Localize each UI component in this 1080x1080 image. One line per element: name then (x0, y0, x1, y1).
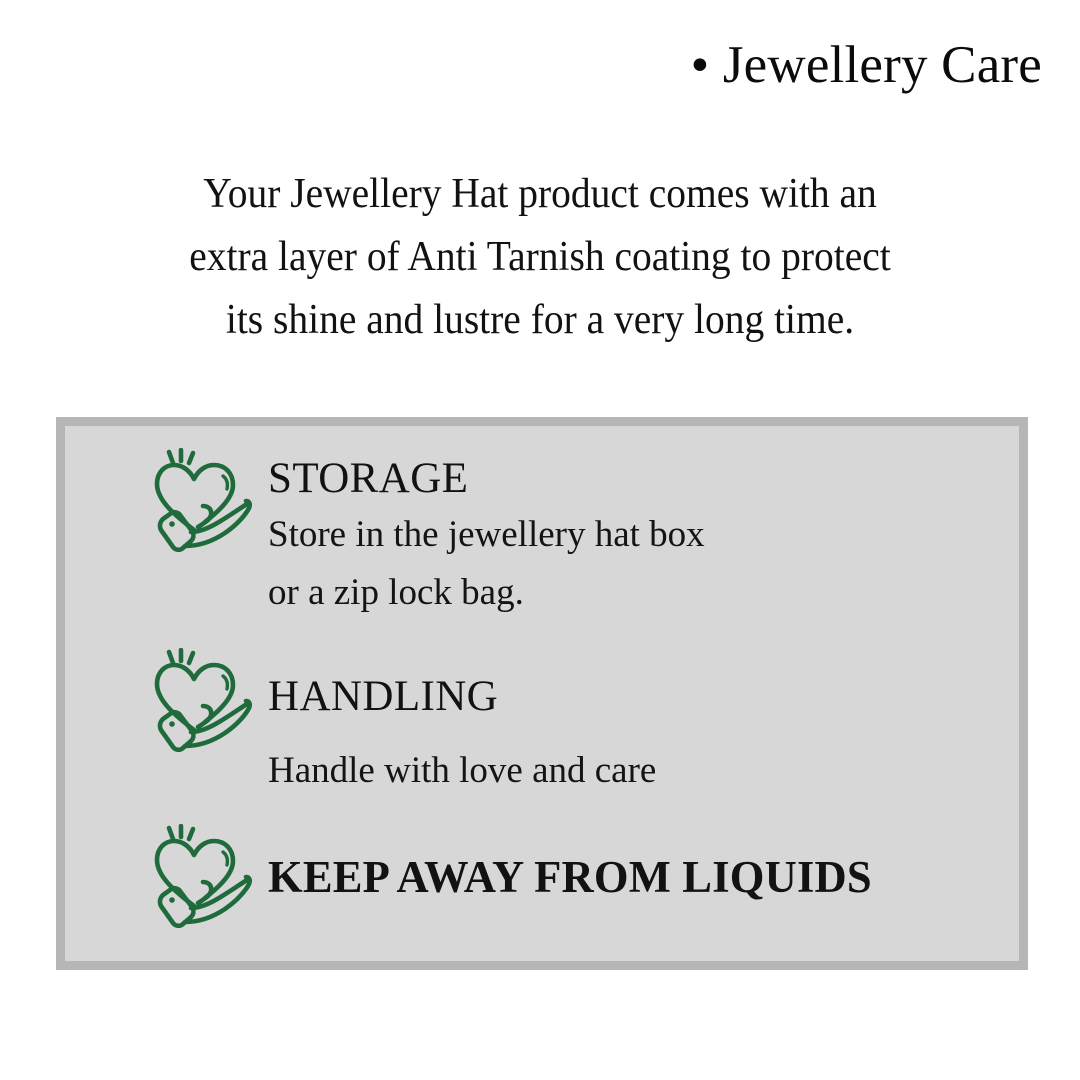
care-item-text: STORAGE Store in the jewellery hat box o… (255, 448, 705, 622)
care-heading-keep-away-from-liquids: KEEP AWAY FROM LIQUIDS (268, 830, 872, 902)
care-item-keep-away-from-liquids: KEEP AWAY FROM LIQUIDS (147, 824, 878, 928)
care-body-handling: Handle with love and care (268, 742, 656, 800)
care-body-line: Handle with love and care (268, 742, 656, 800)
heart-in-hand-icon (147, 448, 255, 552)
intro-line-3: its shine and lustre for a very long tim… (89, 289, 991, 352)
care-item-text: KEEP AWAY FROM LIQUIDS (255, 824, 878, 902)
care-heading-storage: STORAGE (268, 454, 705, 504)
care-item-handling: HANDLING Handle with love and care (147, 648, 656, 800)
care-item-text: HANDLING Handle with love and care (255, 648, 656, 800)
intro-paragraph: Your Jewellery Hat product comes with an… (89, 163, 991, 352)
care-body-line: Store in the jewellery hat box (268, 506, 705, 564)
heart-in-hand-icon (147, 824, 255, 928)
intro-line-2: extra layer of Anti Tarnish coating to p… (89, 226, 991, 289)
care-body-storage: Store in the jewellery hat box or a zip … (268, 506, 705, 622)
care-body-line: or a zip lock bag. (268, 564, 705, 622)
care-item-storage: STORAGE Store in the jewellery hat box o… (147, 448, 705, 622)
care-list: STORAGE Store in the jewellery hat box o… (65, 426, 1019, 961)
care-heading-handling: HANDLING (268, 654, 656, 722)
page-title: • Jewellery Care (0, 34, 1042, 96)
heart-in-hand-icon (147, 648, 255, 752)
intro-line-1: Your Jewellery Hat product comes with an (89, 163, 991, 226)
care-instructions-panel: STORAGE Store in the jewellery hat box o… (56, 417, 1028, 970)
